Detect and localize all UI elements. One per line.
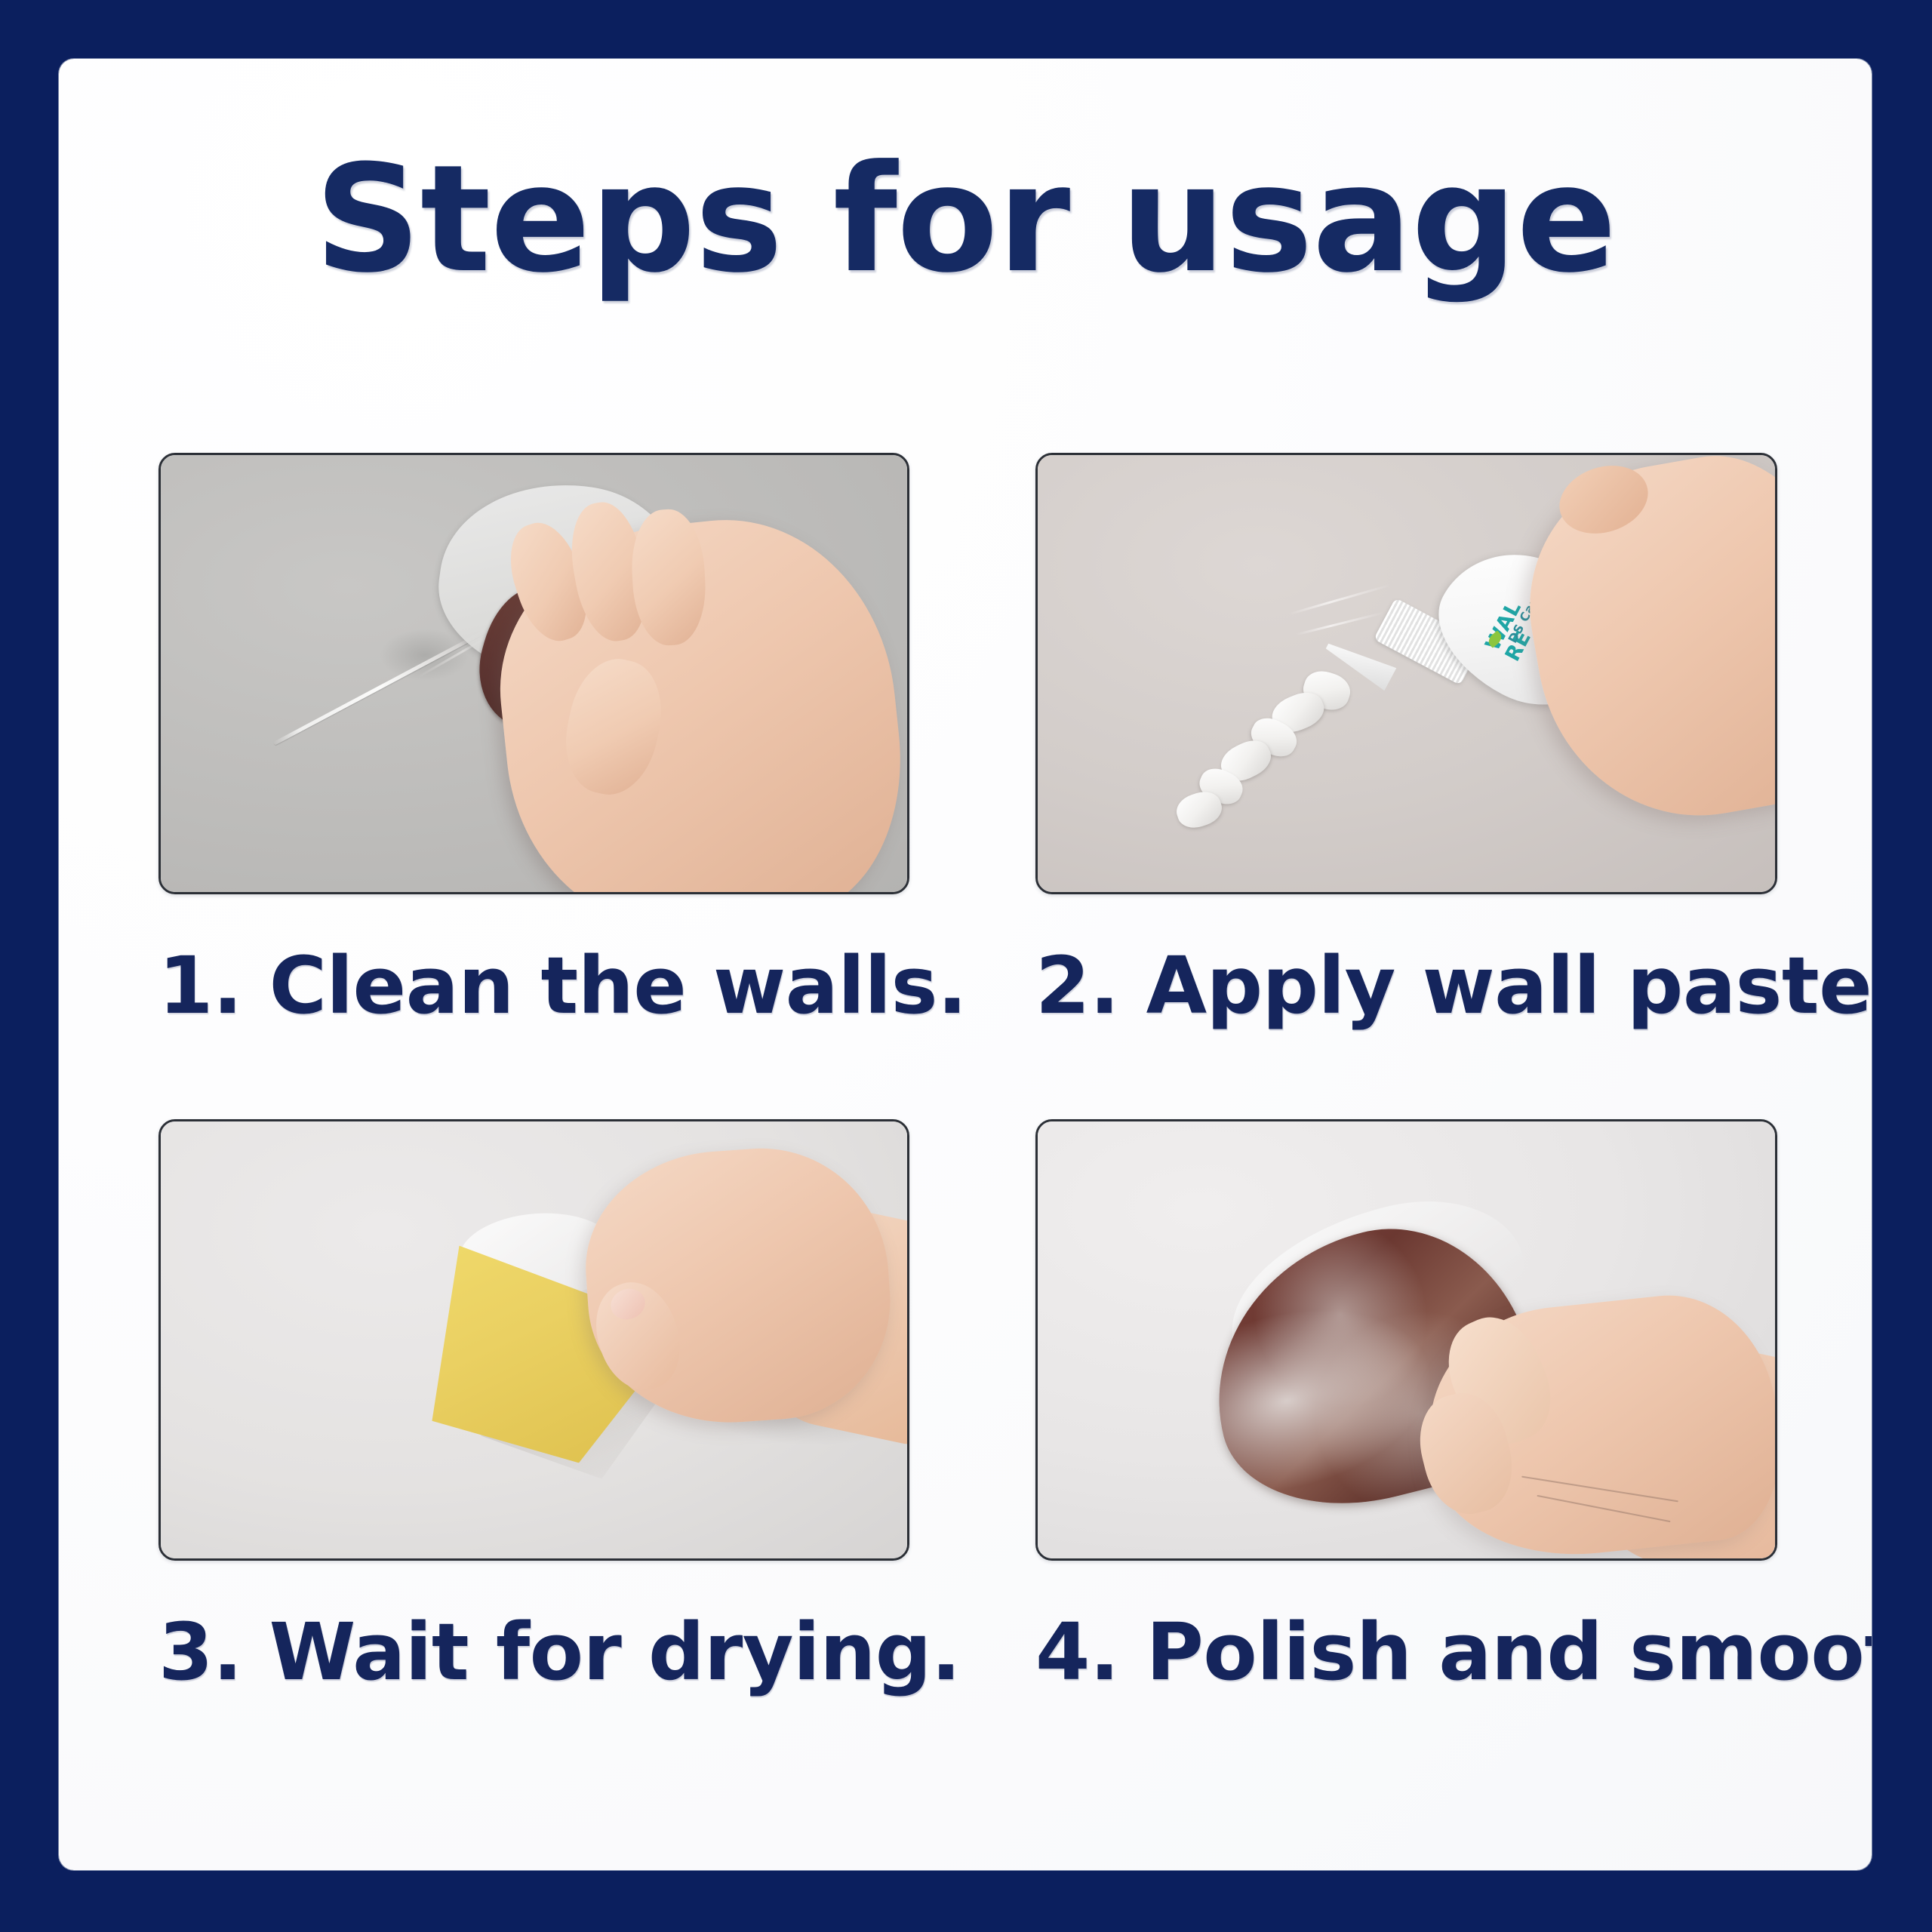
step-2-photo: WAL RE DS Care — [1035, 453, 1777, 894]
step-1-caption: 1. Clean the walls. — [158, 940, 967, 1032]
step-4-caption: 4. Polish and smooth. — [1035, 1606, 1872, 1698]
step-card-3: 3. Wait for drying. — [158, 1119, 909, 1561]
step-card-1: 1. Clean the walls. — [158, 453, 909, 894]
step-3-caption: 3. Wait for drying. — [158, 1606, 961, 1698]
step-1-photo — [158, 453, 909, 894]
poster-card: Steps for usage 1. Clean the walls. — [59, 59, 1872, 1870]
step-3-photo — [158, 1119, 909, 1561]
step-card-2: WAL RE DS Care 2. Apply wall paste. — [1035, 453, 1777, 894]
poster-frame: Steps for usage 1. Clean the walls. — [0, 0, 1932, 1932]
step-2-caption: 2. Apply wall paste. — [1035, 940, 1872, 1032]
step-card-4: 4. Polish and smooth. — [1035, 1119, 1777, 1561]
page-title: Steps for usage — [59, 146, 1872, 294]
step-4-photo — [1035, 1119, 1777, 1561]
